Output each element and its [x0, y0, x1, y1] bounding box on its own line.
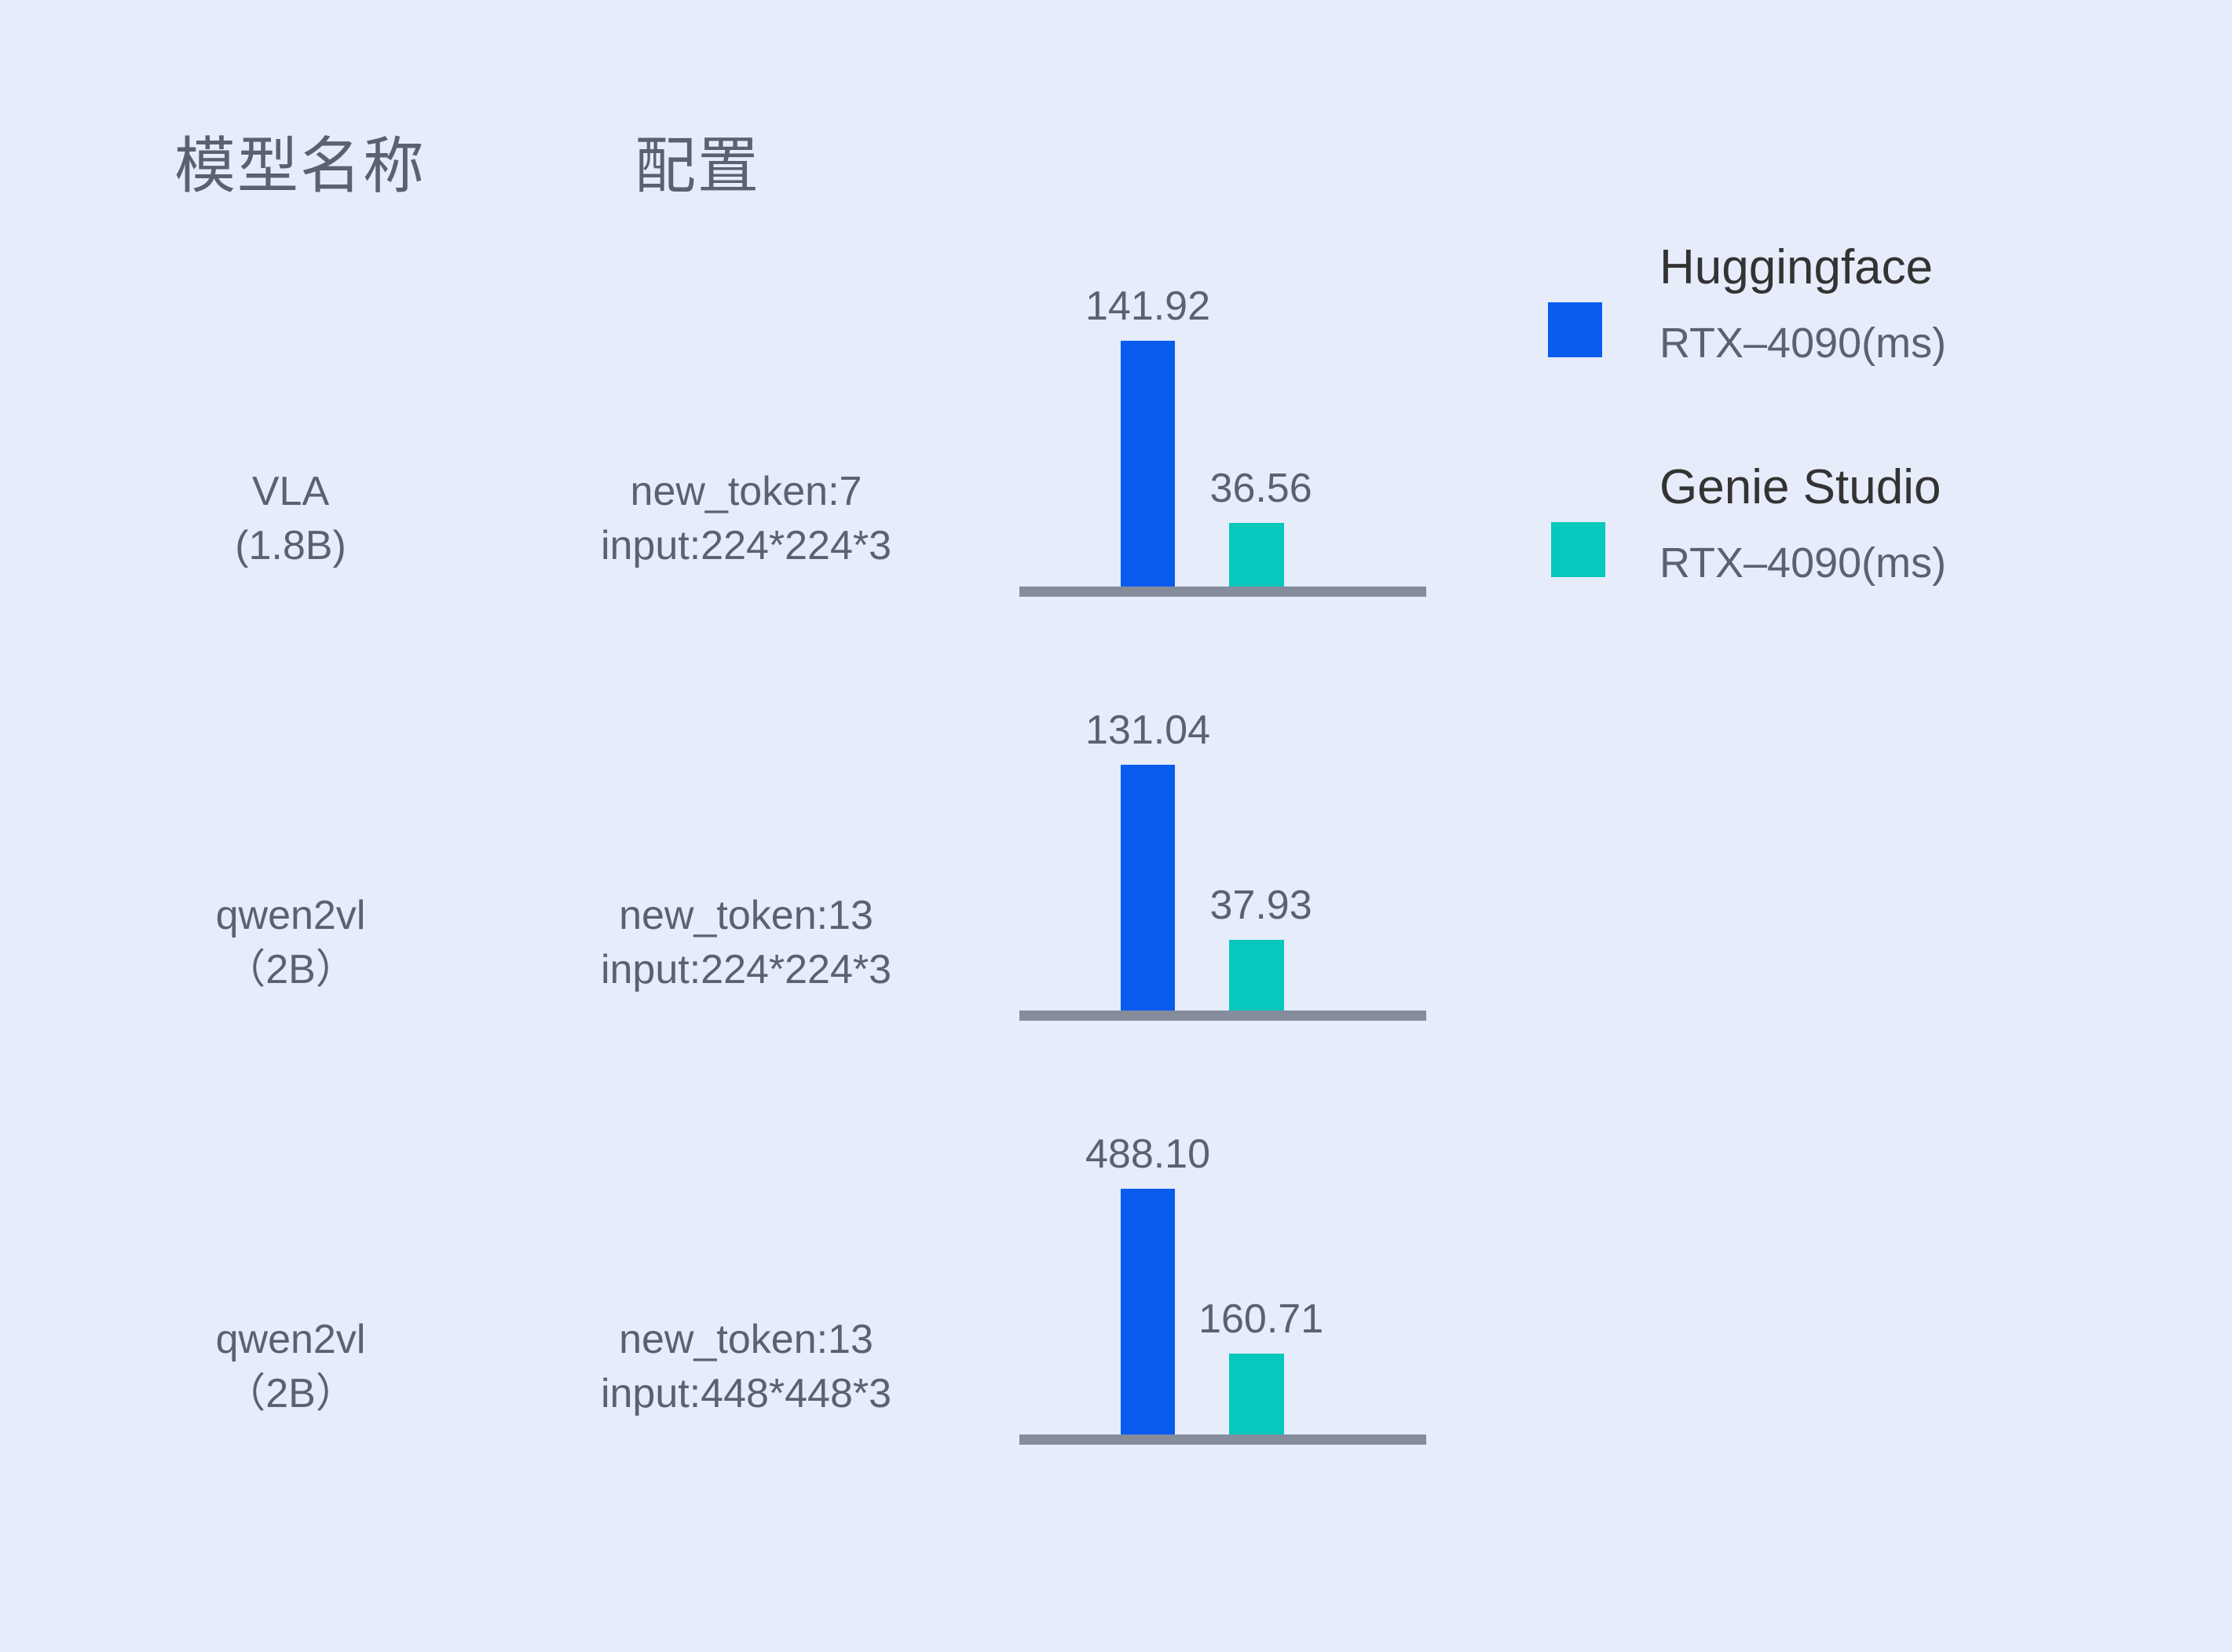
legend-item-huggingface[interactable]: Huggingface RTX–4090(ms) — [1546, 236, 2142, 455]
column-header-config: 配置 — [635, 135, 760, 196]
bar-genie-studio[interactable] — [1229, 940, 1284, 1011]
bar-chart-panel: 141.92 36.56 — [1019, 204, 1428, 597]
cell-model-name: qwen2vl （2B） — [141, 889, 440, 996]
config-line-1: new_token:7 — [503, 465, 990, 519]
bar-chart-panel: 131.04 37.93 — [1019, 628, 1428, 1021]
bar-group-huggingface: 131.04 — [1121, 641, 1175, 1011]
config-line-1: new_token:13 — [503, 1313, 990, 1367]
bar-value-label: 36.56 — [1210, 468, 1312, 509]
config-line-2: input:448*448*3 — [503, 1367, 990, 1421]
legend-swatch-square-icon — [1548, 302, 1602, 357]
bar-value-label: 488.10 — [1085, 1134, 1210, 1175]
config-line-2: input:224*224*3 — [503, 519, 990, 573]
bar-value-label: 131.04 — [1085, 710, 1210, 751]
chart-baseline — [1019, 1011, 1426, 1021]
legend-subtitle: RTX–4090(ms) — [1659, 542, 2131, 584]
bar-huggingface[interactable] — [1121, 341, 1175, 587]
bar-huggingface[interactable] — [1121, 765, 1175, 1011]
table-row: qwen2vl （2B） new_token:13 input:448*448*… — [0, 1052, 2232, 1476]
chart-baseline — [1019, 1435, 1426, 1445]
legend-title: Genie Studio — [1659, 463, 2131, 512]
legend-text-block: Genie Studio RTX–4090(ms) — [1659, 455, 2131, 584]
cell-config: new_token:7 input:224*224*3 — [503, 465, 990, 572]
chart-baseline — [1019, 587, 1426, 597]
bar-genie-studio[interactable] — [1229, 1354, 1284, 1435]
column-header-model-name: 模型名称 — [174, 135, 426, 196]
bar-group-genie-studio: 36.56 — [1229, 217, 1284, 587]
bar-group-huggingface: 141.92 — [1121, 217, 1175, 587]
cell-config: new_token:13 input:224*224*3 — [503, 889, 990, 996]
legend-text-block: Huggingface RTX–4090(ms) — [1659, 236, 2131, 364]
model-name-line-2: (1.8B) — [141, 519, 440, 573]
model-name-line-1: qwen2vl — [141, 889, 440, 943]
model-name-line-2: （2B） — [141, 943, 440, 997]
model-name-line-2: （2B） — [141, 1367, 440, 1421]
bar-value-label: 141.92 — [1085, 286, 1210, 327]
bar-group-genie-studio: 37.93 — [1229, 641, 1284, 1011]
chart-page: 模型名称 配置 VLA (1.8B) new_token:7 input:224… — [0, 0, 2232, 1652]
bar-group-genie-studio: 160.71 — [1229, 1065, 1284, 1435]
table-row: qwen2vl （2B） new_token:13 input:224*224*… — [0, 628, 2232, 1052]
bar-huggingface[interactable] — [1121, 1189, 1175, 1435]
bar-genie-studio[interactable] — [1229, 523, 1284, 587]
model-name-line-1: VLA — [141, 465, 440, 519]
config-line-1: new_token:13 — [503, 889, 990, 943]
cell-model-name: VLA (1.8B) — [141, 465, 440, 572]
bar-chart-panel: 488.10 160.71 — [1019, 1052, 1428, 1445]
legend-title: Huggingface — [1659, 243, 2131, 292]
cell-model-name: qwen2vl （2B） — [141, 1313, 440, 1420]
config-line-2: input:224*224*3 — [503, 943, 990, 997]
legend-item-genie-studio[interactable]: Genie Studio RTX–4090(ms) — [1546, 455, 2142, 675]
model-name-line-1: qwen2vl — [141, 1313, 440, 1367]
bar-value-label: 37.93 — [1210, 885, 1312, 926]
legend-subtitle: RTX–4090(ms) — [1659, 322, 2131, 364]
cell-config: new_token:13 input:448*448*3 — [503, 1313, 990, 1420]
legend-swatch-square-icon — [1551, 522, 1605, 577]
chart-legend: Huggingface RTX–4090(ms) Genie Studio RT… — [1546, 236, 2142, 675]
bar-group-huggingface: 488.10 — [1121, 1065, 1175, 1435]
bar-value-label: 160.71 — [1198, 1299, 1323, 1340]
